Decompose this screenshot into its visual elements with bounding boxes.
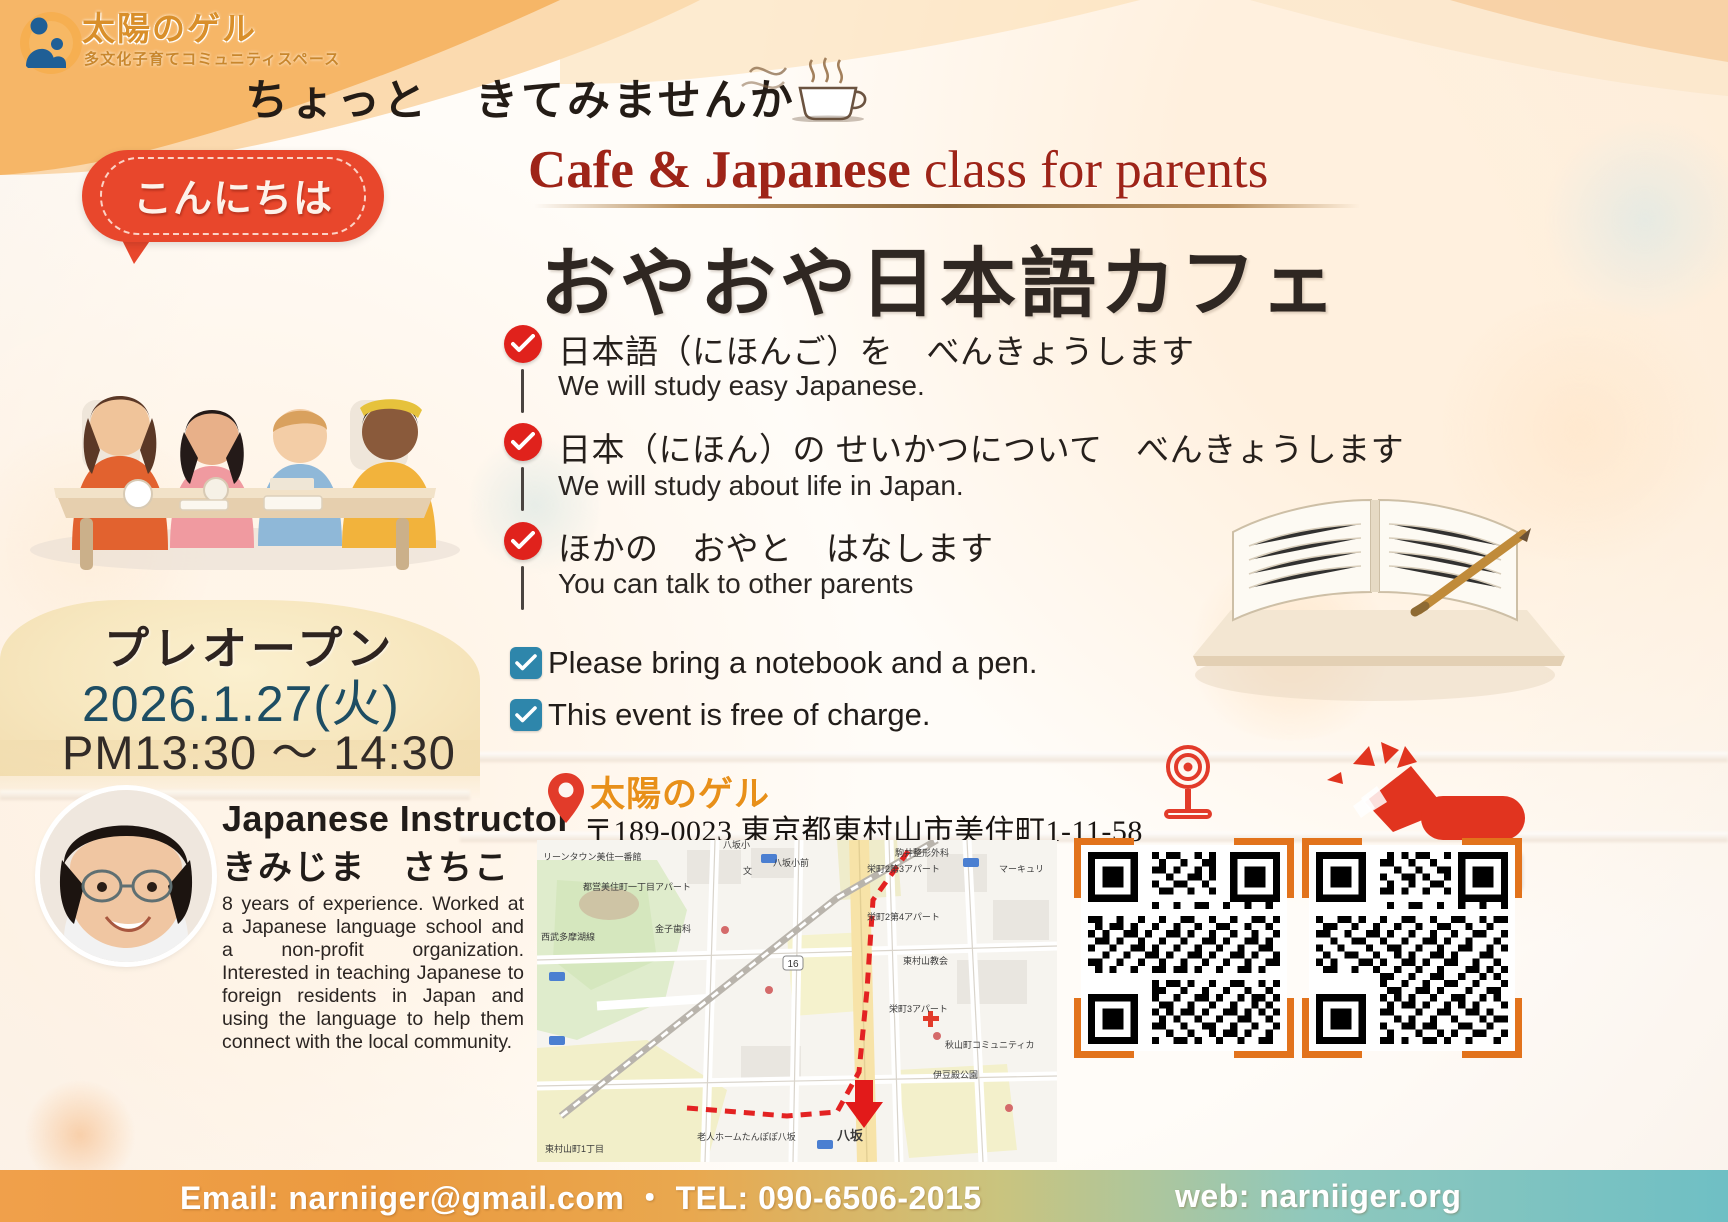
svg-text:駒井整形外科: 駒井整形外科: [895, 847, 949, 858]
svg-text:東村山町1丁目: 東村山町1丁目: [545, 1143, 604, 1154]
svg-text:秋山町コミュニティカ: 秋山町コミュニティカ: [945, 1039, 1034, 1050]
note-item: Please bring a notebook and a pen.: [510, 645, 1038, 681]
bullet-jp-text: ほかの おやと はなします: [558, 522, 994, 570]
instructor-name: きみじま さちこ: [222, 840, 510, 889]
location-map[interactable]: 16 八坂小 文 八坂小前 駒井整形外科 マーキュリ 栄町2第3アパート リーン…: [537, 840, 1057, 1162]
bullet-en-text: You can talk to other parents: [558, 568, 913, 600]
instructor-role: Japanese Instructor: [222, 798, 572, 840]
qr-code-left[interactable]: [1081, 845, 1287, 1051]
title-english-bold: Cafe & Japanese: [528, 141, 911, 199]
check-circle-icon: [504, 522, 542, 560]
footer-contact: Email: narniiger@gmail.com ・ TEL: 090-65…: [180, 1173, 982, 1219]
svg-text:マーキュリ: マーキュリ: [999, 864, 1044, 874]
bullet-en-text: We will study about life in Japan.: [558, 470, 964, 502]
header-kicker: ちょっと きてみませんか: [245, 66, 796, 128]
checkbox-icon: [510, 647, 542, 679]
svg-text:老人ホームたんぽぽ八坂: 老人ホームたんぽぽ八坂: [697, 1131, 796, 1142]
bullet-connector: [521, 369, 524, 413]
svg-text:16: 16: [787, 959, 799, 970]
note-text: Please bring a notebook and a pen.: [548, 645, 1038, 681]
check-circle-icon: [504, 423, 542, 461]
svg-text:金子歯科: 金子歯科: [655, 923, 691, 934]
svg-text:西武多摩湖線: 西武多摩湖線: [541, 931, 595, 942]
svg-text:リーンタウン美住一番館: リーンタウン美住一番館: [543, 851, 642, 862]
parent-child-logo-icon: [18, 10, 84, 76]
svg-text:東村山教会: 東村山教会: [903, 955, 948, 966]
instructor-bio: 8 years of experience. Worked at a Japan…: [222, 893, 524, 1054]
schedule-time: PM13:30 〜 14:30: [62, 714, 456, 783]
svg-text:栄町3アパート: 栄町3アパート: [889, 1003, 948, 1014]
svg-text:伊豆殿公園: 伊豆殿公園: [933, 1069, 978, 1080]
people-at-table-illustration: [20, 250, 470, 570]
title-english-rest: class for parents: [911, 141, 1269, 199]
checkbox-icon: [510, 699, 542, 731]
svg-text:都営美住町一丁目アパート: 都営美住町一丁目アパート: [583, 881, 691, 892]
svg-text:八坂: 八坂: [836, 1128, 864, 1143]
footer-bar: Email: narniiger@gmail.com ・ TEL: 090-65…: [0, 1170, 1728, 1222]
avatar: [40, 790, 212, 962]
megaphone-icon: [1325, 740, 1525, 840]
instructor-portrait: [40, 790, 212, 962]
coffee-cup-icon: [740, 52, 880, 122]
location-target-icon: [1160, 745, 1216, 823]
bullet-jp-text: 日本語（にほんご）を べんきょうします: [558, 325, 1195, 373]
svg-text:八坂小前: 八坂小前: [773, 857, 809, 868]
note-item: This event is free of charge.: [510, 697, 931, 733]
qr-code-right[interactable]: [1309, 845, 1515, 1051]
svg-text:栄町2第4アパート: 栄町2第4アパート: [867, 911, 940, 922]
poster-root: 太陽のゲル 多文化子育てコミュニティスペース ちょっと きてみませんか こんにち…: [0, 0, 1728, 1222]
notebook-and-pen-image: [1175, 460, 1575, 710]
footer-content: Email: narniiger@gmail.com ・ TEL: 090-65…: [0, 1170, 1728, 1222]
page-title-english: Cafe & Japanese class for parents: [528, 140, 1378, 200]
check-circle-icon: [504, 325, 542, 363]
footer-website: web: narniiger.org: [1175, 1178, 1461, 1215]
speech-bubble-text: こんにちは: [82, 150, 384, 242]
page-title-japanese: おやおや日本語カフェ: [540, 222, 1340, 332]
logo-name: 太陽のゲル: [82, 2, 257, 50]
panel-divider: [460, 752, 1728, 762]
svg-text:文: 文: [743, 865, 752, 876]
title-underline: [534, 204, 1360, 208]
svg-text:栄町2第3アパート: 栄町2第3アパート: [867, 863, 940, 874]
svg-text:八坂小: 八坂小: [723, 840, 750, 850]
bullet-en-text: We will study easy Japanese.: [558, 370, 925, 402]
bullet-connector: [521, 566, 524, 610]
map-pin-icon: [547, 772, 585, 824]
bullet-connector: [521, 467, 524, 511]
note-text: This event is free of charge.: [548, 697, 931, 733]
